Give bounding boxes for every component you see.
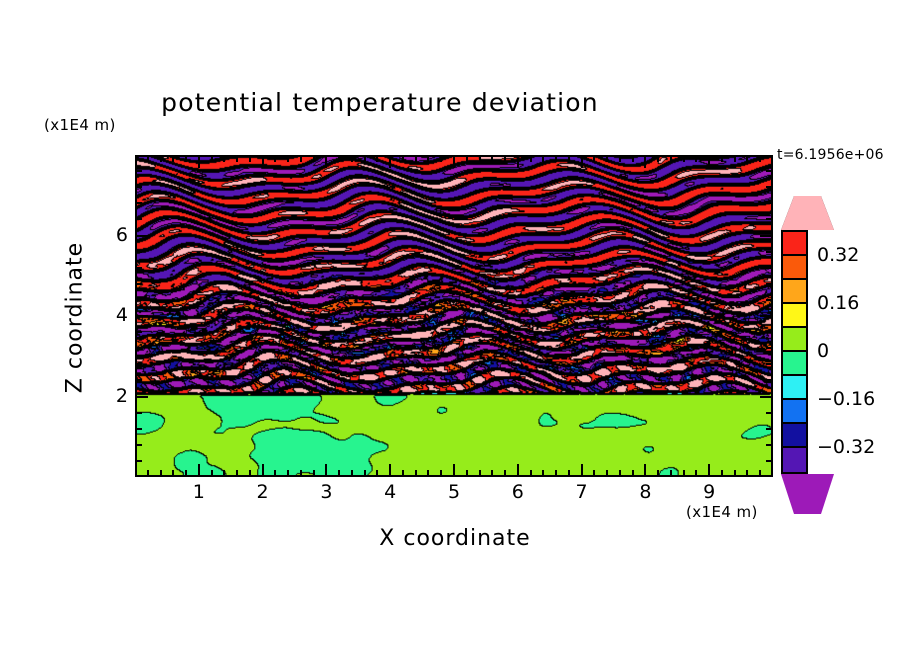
x-tick-label: 1 (179, 481, 219, 503)
y-axis-tick (766, 251, 772, 253)
y-axis-tick (136, 202, 142, 204)
y-axis-tick (760, 235, 772, 237)
x-tick-label: 7 (562, 481, 602, 503)
colorbar-band (783, 352, 806, 376)
x-axis-tick (530, 470, 532, 476)
colorbar: 0.320.160−0.16−0.32 (781, 168, 901, 518)
z-axis-unit-label: (x1E4 m) (44, 116, 116, 134)
y-axis-tick (766, 363, 772, 365)
y-axis-tick (766, 186, 772, 188)
page-title: potential temperature deviation (0, 88, 760, 117)
y-axis-tick (766, 170, 772, 172)
y-axis-tick (766, 379, 772, 381)
x-axis-tick (172, 156, 174, 162)
x-axis-tick (530, 156, 532, 162)
x-axis-tick (338, 156, 340, 162)
x-axis-tick (313, 470, 315, 476)
x-axis-tick (427, 156, 429, 162)
y-axis-tick (136, 186, 142, 188)
colorbar-band (783, 424, 806, 448)
x-axis-tick (708, 156, 710, 168)
x-axis-tick (644, 156, 646, 168)
y-axis-tick (136, 363, 142, 365)
x-axis-tick (734, 470, 736, 476)
y-axis-tick (136, 444, 142, 446)
x-axis-tick (555, 470, 557, 476)
y-axis-tick (136, 379, 142, 381)
colorbar-tick-label: −0.32 (817, 436, 875, 458)
x-axis-tick (223, 470, 225, 476)
x-axis-tick (466, 156, 468, 162)
x-axis-tick (491, 470, 493, 476)
x-axis-tick (389, 156, 391, 168)
x-axis-tick (517, 156, 519, 168)
x-axis-tick (683, 470, 685, 476)
x-axis-tick (287, 156, 289, 162)
x-axis-tick (542, 156, 544, 162)
x-axis-tick (708, 464, 710, 476)
y-axis-tick (766, 218, 772, 220)
x-axis-tick (262, 156, 264, 168)
colorbar-over-arrow-icon (781, 196, 834, 230)
x-axis-tick (632, 156, 634, 162)
y-axis-title: Z coordinate (63, 218, 88, 418)
x-axis-tick (695, 470, 697, 476)
x-axis-tick (606, 470, 608, 476)
x-axis-tick (211, 156, 213, 162)
x-axis-title: X coordinate (285, 526, 625, 551)
x-axis-tick (542, 470, 544, 476)
colorbar-band (783, 232, 806, 256)
x-axis-tick (351, 470, 353, 476)
x-axis-tick (147, 470, 149, 476)
x-axis-tick (325, 156, 327, 168)
colorbar-tick-label: 0.32 (817, 244, 859, 266)
x-axis-tick (517, 464, 519, 476)
x-axis-tick (198, 156, 200, 168)
colorbar-band (783, 328, 806, 352)
x-axis-tick (364, 470, 366, 476)
x-axis-tick (746, 156, 748, 162)
y-axis-tick (766, 267, 772, 269)
x-axis-tick (479, 470, 481, 476)
colorbar-band (783, 280, 806, 304)
x-axis-tick (721, 470, 723, 476)
x-axis-tick (657, 156, 659, 162)
x-axis-tick (657, 470, 659, 476)
x-axis-tick (555, 156, 557, 162)
x-axis-tick (504, 156, 506, 162)
x-axis-tick (581, 156, 583, 168)
x-tick-label: 3 (306, 481, 346, 503)
y-tick-label: 6 (88, 224, 128, 246)
x-axis-tick (262, 464, 264, 476)
x-axis-tick (147, 156, 149, 162)
x-tick-label: 4 (370, 481, 410, 503)
colorbar-band (783, 376, 806, 400)
x-axis-tick (568, 470, 570, 476)
x-axis-tick (453, 464, 455, 476)
x-axis-tick (593, 470, 595, 476)
y-axis-tick (766, 283, 772, 285)
y-axis-tick (760, 315, 772, 317)
x-tick-label: 6 (498, 481, 538, 503)
y-axis-tick (136, 428, 142, 430)
x-axis-tick (427, 470, 429, 476)
x-axis-tick (402, 470, 404, 476)
x-tick-label: 2 (243, 481, 283, 503)
x-axis-tick (479, 156, 481, 162)
y-axis-tick (136, 267, 142, 269)
x-axis-tick (325, 464, 327, 476)
colorbar-band (783, 256, 806, 280)
x-axis-tick (415, 156, 417, 162)
x-axis-tick (198, 464, 200, 476)
x-axis-tick (364, 156, 366, 162)
x-axis-tick (274, 470, 276, 476)
y-axis-tick (766, 428, 772, 430)
y-axis-tick (766, 460, 772, 462)
x-axis-tick (440, 470, 442, 476)
x-axis-tick (300, 156, 302, 162)
x-axis-tick (223, 156, 225, 162)
x-axis-tick (274, 156, 276, 162)
x-axis-tick (606, 156, 608, 162)
x-axis-tick (581, 464, 583, 476)
y-axis-tick (136, 218, 142, 220)
y-axis-tick (766, 299, 772, 301)
x-axis-tick (504, 470, 506, 476)
contour-field-canvas (137, 157, 771, 475)
y-axis-tick (136, 396, 148, 398)
x-axis-tick (160, 470, 162, 476)
x-axis-tick (619, 156, 621, 162)
x-axis-tick (211, 470, 213, 476)
x-axis-tick (160, 156, 162, 162)
colorbar-under-arrow-icon (781, 474, 834, 514)
x-axis-tick (695, 156, 697, 162)
x-axis-tick (185, 470, 187, 476)
y-axis-tick (136, 235, 148, 237)
y-axis-tick (766, 444, 772, 446)
colorbar-band (783, 400, 806, 424)
colorbar-tick-label: −0.16 (817, 388, 875, 410)
x-axis-tick (466, 470, 468, 476)
x-axis-tick (746, 470, 748, 476)
x-axis-tick (313, 156, 315, 162)
x-axis-tick (338, 470, 340, 476)
x-axis-tick (453, 156, 455, 168)
x-axis-tick (670, 470, 672, 476)
x-axis-tick (632, 470, 634, 476)
x-axis-tick (440, 156, 442, 162)
x-axis-tick (389, 464, 391, 476)
y-tick-label: 4 (88, 304, 128, 326)
colorbar-tick-label: 0.16 (817, 292, 859, 314)
x-axis-tick (300, 470, 302, 476)
x-axis-tick (249, 470, 251, 476)
x-axis-tick (287, 470, 289, 476)
x-axis-tick (683, 156, 685, 162)
x-axis-tick (568, 156, 570, 162)
colorbar-bands (781, 230, 808, 474)
y-axis-tick (760, 396, 772, 398)
x-axis-unit-label: (x1E4 m) (686, 503, 758, 521)
x-axis-tick (593, 156, 595, 162)
colorbar-band (783, 304, 806, 328)
x-axis-tick (185, 156, 187, 162)
y-axis-tick (766, 347, 772, 349)
colorbar-band (783, 448, 806, 472)
y-axis-tick (136, 331, 142, 333)
x-axis-tick (172, 470, 174, 476)
x-axis-tick (415, 470, 417, 476)
x-axis-tick (236, 156, 238, 162)
x-axis-tick (236, 470, 238, 476)
x-axis-tick (376, 156, 378, 162)
x-axis-tick (351, 156, 353, 162)
contour-plot-area (135, 155, 773, 477)
y-axis-tick (766, 202, 772, 204)
y-axis-tick (136, 251, 142, 253)
y-axis-tick (136, 315, 148, 317)
y-tick-label: 2 (88, 385, 128, 407)
y-axis-tick (136, 460, 142, 462)
x-axis-tick (402, 156, 404, 162)
x-axis-tick (619, 470, 621, 476)
x-axis-tick (734, 156, 736, 162)
x-tick-label: 8 (625, 481, 665, 503)
x-axis-tick (644, 464, 646, 476)
y-axis-tick (136, 170, 142, 172)
x-tick-label: 5 (434, 481, 474, 503)
colorbar-tick-label: 0 (817, 340, 829, 362)
time-annotation: t=6.1956e+06 (777, 147, 884, 163)
x-axis-tick (670, 156, 672, 162)
x-axis-tick (491, 156, 493, 162)
x-tick-label: 9 (689, 481, 729, 503)
y-axis-tick (766, 412, 772, 414)
x-axis-tick (759, 156, 761, 162)
y-axis-tick (766, 331, 772, 333)
y-axis-tick (136, 283, 142, 285)
y-axis-tick (136, 412, 142, 414)
x-axis-tick (759, 470, 761, 476)
y-axis-tick (136, 347, 142, 349)
x-axis-tick (721, 156, 723, 162)
x-axis-tick (376, 470, 378, 476)
y-axis-tick (136, 299, 142, 301)
x-axis-tick (249, 156, 251, 162)
